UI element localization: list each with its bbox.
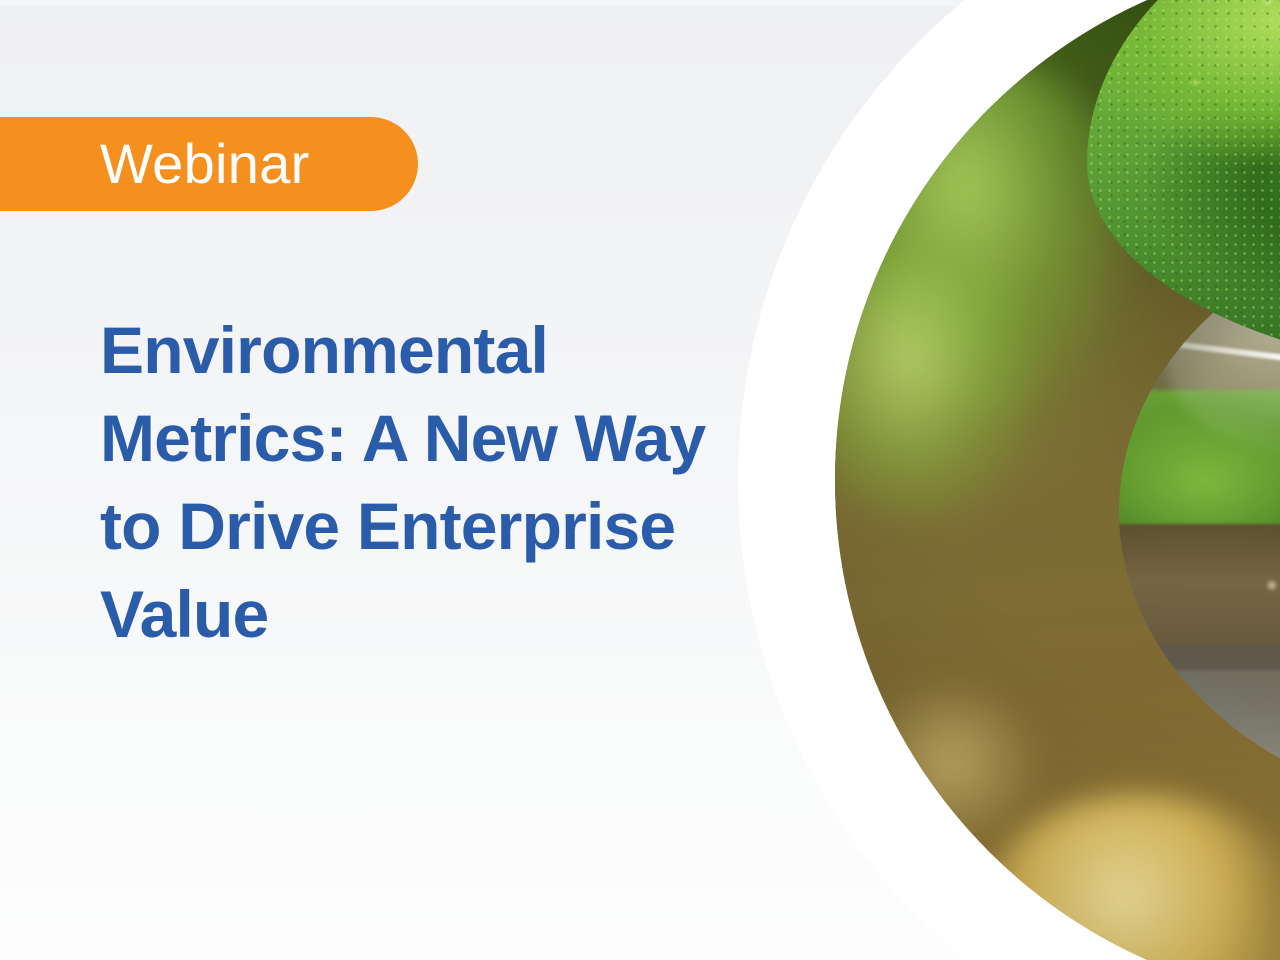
globe-water-layer (1119, 645, 1280, 816)
webinar-badge-label: Webinar (100, 136, 310, 192)
photo-inner (835, 0, 1280, 960)
tree-canopy (1087, 0, 1280, 375)
background-foliage-blur-b (835, 249, 1035, 522)
globe-rim-stroke-lower (1152, 338, 1280, 435)
canopy-mass (1087, 0, 1280, 375)
photo-vignette (835, 0, 1280, 960)
page-title: Environmental Metrics: A New Way to Driv… (100, 306, 730, 658)
canopy-leaf-texture (1087, 0, 1280, 375)
forest-backdrop (835, 0, 1280, 960)
webinar-title-card: Webinar Environmental Metrics: A New Way… (0, 0, 1280, 960)
text-column: Webinar Environmental Metrics: A New Way… (0, 0, 760, 960)
globe-photo-circle (835, 0, 1280, 960)
background-foliage-blur-a (856, 60, 1129, 417)
bokeh-light-1 (982, 795, 1280, 960)
globe-rim-stroke-upper (1138, 207, 1280, 294)
canopy-leaf-edges (1087, 0, 1280, 375)
globe-soil-layer (1119, 524, 1280, 670)
globe-highlight-upper (1165, 256, 1280, 463)
webinar-badge: Webinar (0, 117, 418, 211)
white-curve-divider (738, 0, 1280, 960)
bokeh-light-3 (856, 690, 1045, 837)
globe-moss-layer (1119, 390, 1280, 548)
glass-globe (1119, 207, 1280, 816)
